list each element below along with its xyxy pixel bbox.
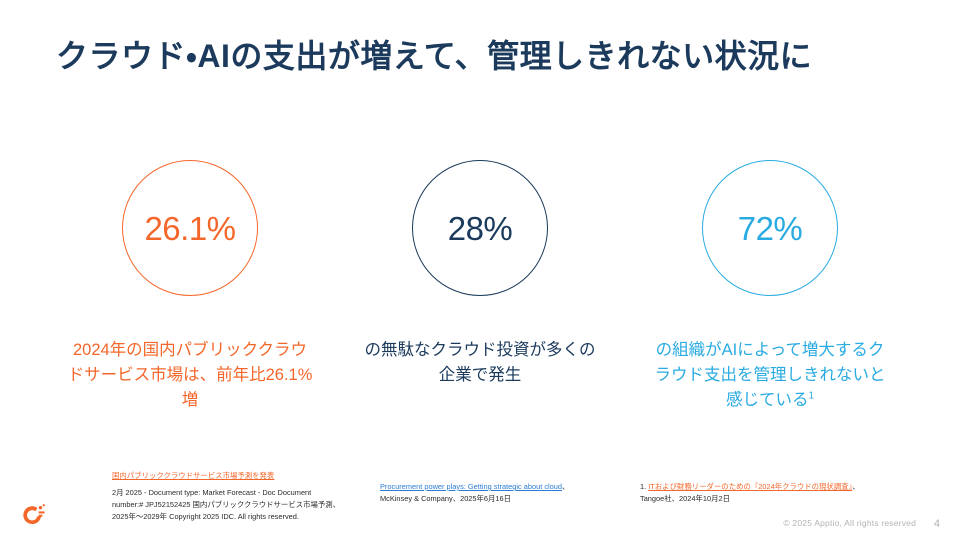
footer-copyright: © 2025 Apptio, All rights reserved (783, 518, 916, 528)
page-title: クラウド・AIの支出が増えて、管理しきれない状況に (56, 36, 906, 76)
footnote-1-body: 2月 2025 - Document type: Market Forecast… (112, 487, 342, 523)
stat-caption-2: の無駄なクラウド投資が多くの企業で発生 (358, 338, 603, 388)
footnotes-row: 国内パブリッククラウドサービス市場予測を発表 2月 2025 - Documen… (56, 470, 904, 523)
footnote-3-link[interactable]: ITおよび財務リーダーのための『2024年クラウドの現状調査』 (648, 482, 852, 491)
footnote-1: 国内パブリッククラウドサービス市場予測を発表 2月 2025 - Documen… (112, 470, 342, 523)
apptio-logo-icon (20, 502, 46, 528)
footnote-1-link[interactable]: 国内パブリッククラウドサービス市場予測を発表 (112, 471, 274, 480)
stat-caption-3-text: の組織がAIによって増大するクラウド支出を管理しきれないと感じている (655, 341, 886, 409)
stat-caption-3: の組織がAIによって増大するクラウド支出を管理しきれないと感じている1 (648, 338, 893, 412)
footnote-2: Procurement power plays: Getting strateg… (380, 470, 590, 523)
stat-block-2: 28% の無駄なクラウド投資が多くの企業で発生 (346, 160, 614, 388)
footer-page-number: 4 (934, 518, 940, 530)
footnote-2-link[interactable]: Procurement power plays: Getting strateg… (380, 482, 562, 491)
slide-canvas: クラウド・AIの支出が増えて、管理しきれない状況に 26.1% 2024年の国内… (0, 0, 960, 540)
stats-row: 26.1% 2024年の国内パブリッククラウドサービス市場は、前年比26.1%増… (56, 160, 904, 412)
stat-circle-3: 72% (702, 160, 838, 296)
stat-block-3: 72% の組織がAIによって増大するクラウド支出を管理しきれないと感じている1 (636, 160, 904, 412)
stat-value-3: 72% (738, 212, 803, 245)
stat-circle-1: 26.1% (122, 160, 258, 296)
footnote-3: 1. ITおよび財務リーダーのための『2024年クラウドの現状調査』、Tango… (640, 470, 870, 523)
stat-value-1: 26.1% (144, 212, 235, 245)
stat-circle-2: 28% (412, 160, 548, 296)
stat-block-1: 26.1% 2024年の国内パブリッククラウドサービス市場は、前年比26.1%増 (56, 160, 324, 412)
stat-caption-3-superscript: 1 (808, 390, 814, 401)
stat-value-2: 28% (448, 212, 513, 245)
stat-caption-1: 2024年の国内パブリッククラウドサービス市場は、前年比26.1%増 (68, 338, 313, 412)
footnote-3-marker: 1. (640, 482, 648, 491)
